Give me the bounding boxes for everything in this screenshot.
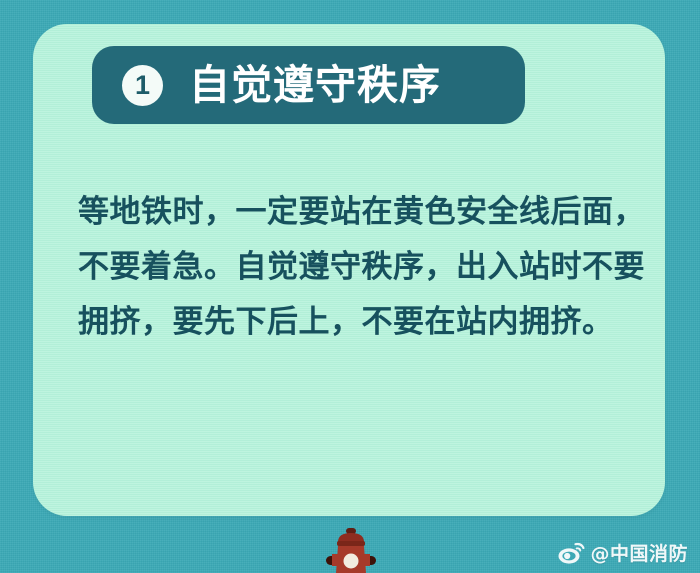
header-pill: 1 自觉遵守秩序 bbox=[92, 46, 525, 124]
weibo-logo-icon bbox=[558, 542, 585, 564]
fire-hydrant-icon bbox=[324, 528, 378, 573]
body-line-3: 拥挤，要先下后上，不要在站内拥挤。 bbox=[78, 295, 664, 350]
poster-canvas: 1 自觉遵守秩序 等地铁时，一定要站在黄色安全线后面， 不要着急。自觉遵守秩序，… bbox=[0, 0, 700, 573]
watermark-handle: @中国消防 bbox=[590, 539, 688, 566]
weibo-watermark: @中国消防 bbox=[558, 539, 688, 566]
body-line-2: 不要着急。自觉遵守秩序，出入站时不要 bbox=[78, 240, 664, 295]
page-title: 自觉遵守秩序 bbox=[189, 65, 441, 106]
step-number-badge: 1 bbox=[122, 65, 163, 106]
body-paragraph: 等地铁时，一定要站在黄色安全线后面， 不要着急。自觉遵守秩序，出入站时不要 拥挤… bbox=[78, 185, 664, 350]
body-line-1: 等地铁时，一定要站在黄色安全线后面， bbox=[78, 185, 664, 240]
